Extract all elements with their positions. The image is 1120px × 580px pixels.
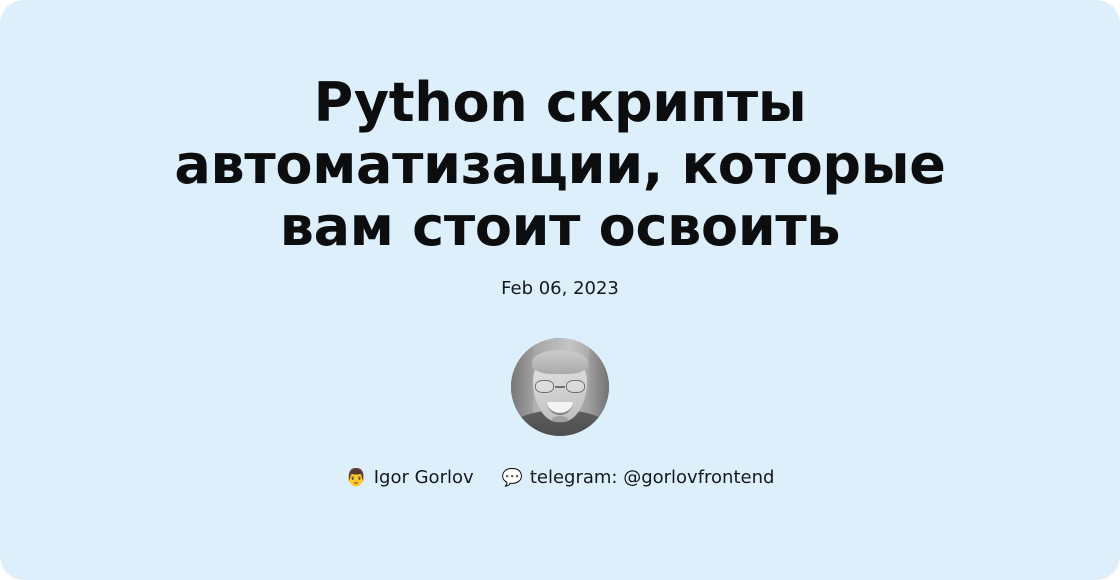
avatar [511,338,609,436]
title-line-1: Python скрипты [314,71,807,134]
avatar-glasses [534,380,586,394]
title-line-2: автоматизации, которые [174,133,945,196]
article-cover-card: Python скрипты автоматизации, которые ва… [0,0,1120,580]
avatar-hair [532,350,588,374]
speech-bubble-icon: 💬 [502,470,523,487]
author-name-item: 👨 Igor Gorlov [346,466,474,490]
avatar-chin [552,416,568,423]
person-icon: 👨 [346,470,367,487]
page-title: Python скрипты автоматизации, которые ва… [110,72,1010,258]
title-line-3: вам стоит освоить [280,195,840,258]
glasses-lens-right [566,380,585,393]
author-name: Igor Gorlov [374,466,474,490]
glasses-lens-left [535,380,554,393]
author-telegram[interactable]: telegram: @gorlovfrontend [530,466,775,490]
author-contact-item[interactable]: 💬 telegram: @gorlovfrontend [502,466,775,490]
author-footer: 👨 Igor Gorlov 💬 telegram: @gorlovfronten… [346,466,775,490]
glasses-bridge [555,386,565,388]
publish-date: Feb 06, 2023 [501,278,619,300]
